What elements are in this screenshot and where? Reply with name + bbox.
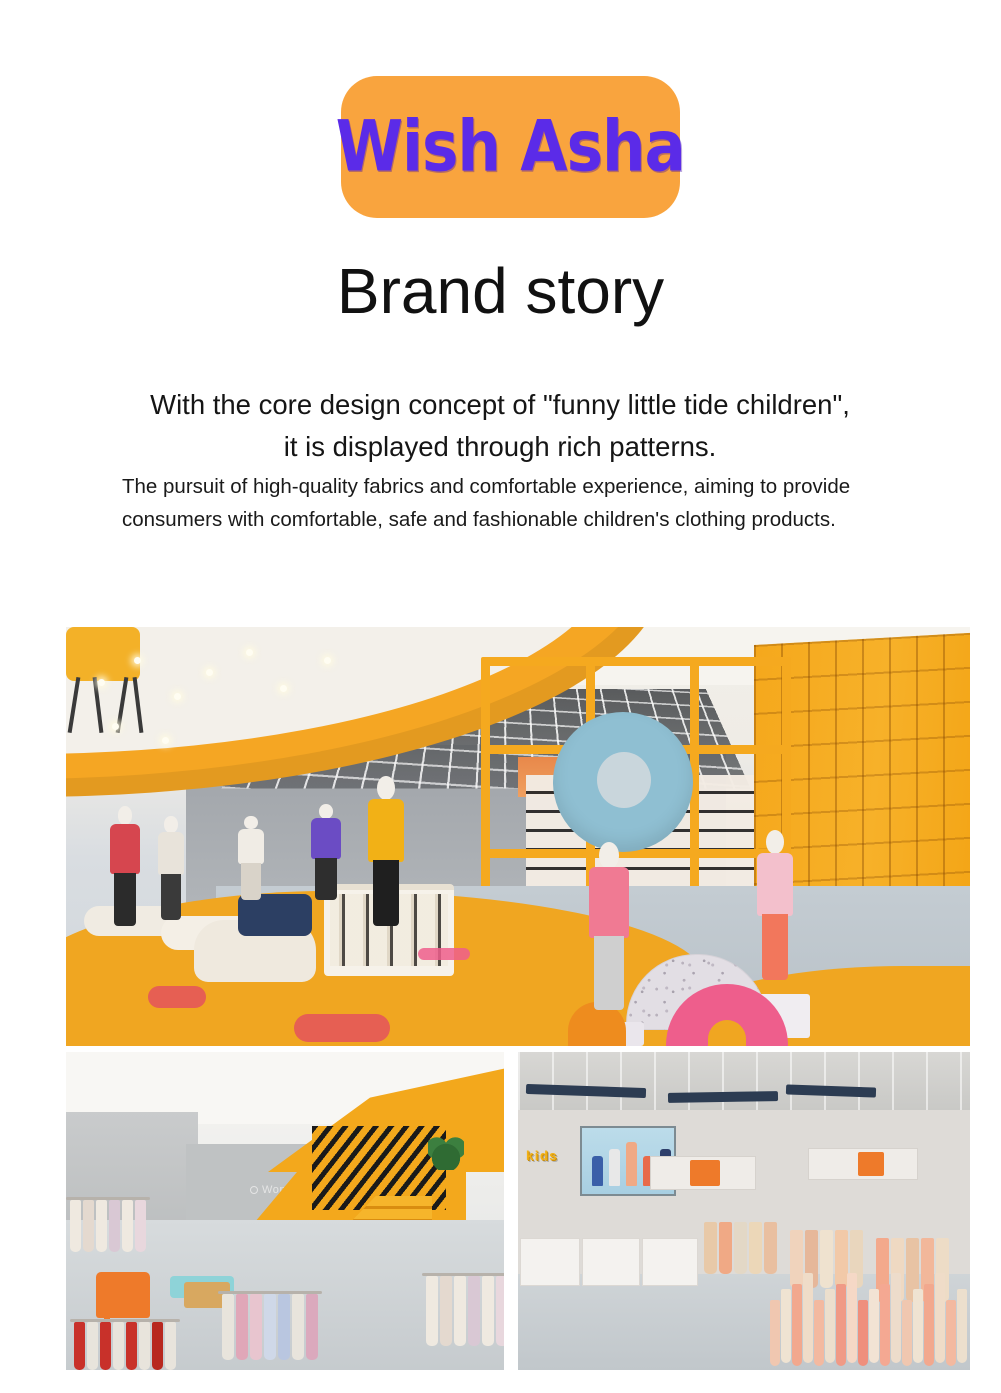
mannequin-head [599,842,619,869]
left-plant [428,1130,464,1170]
right-poster-1 [690,1160,720,1186]
mannequin-head [118,806,133,825]
wonderful-ring-icon [250,1186,258,1194]
hanging-garment [764,1222,777,1274]
left-rack-low-item [113,1322,124,1370]
left-rack-front-item [250,1294,262,1360]
foreground-garment [880,1284,890,1366]
left-rack-low-item [152,1322,163,1370]
hero-backpack-display [238,894,312,936]
mannequin-top [368,799,403,862]
hanging-garment [790,1230,803,1288]
mannequin-b [156,816,186,920]
mannequin-bottom [594,936,623,1010]
mannequin-e [366,776,406,926]
left-scene: Wonderful [66,1052,504,1370]
left-rack-low-bar [70,1319,180,1322]
foreground-garment [858,1300,868,1366]
foreground-garment [946,1300,956,1366]
mannequin-head [244,816,257,829]
hanging-garment [820,1230,833,1288]
hanging-garment [719,1222,732,1274]
hero-blue-donut-sculpture [553,712,693,852]
ceiling-light-5 [162,737,169,744]
foreground-garment [792,1284,802,1366]
left-rack-front-item [264,1294,276,1360]
mannequin-top [757,853,794,916]
right-poster-2 [858,1152,884,1176]
screen-figure [626,1142,637,1186]
screen-figure [592,1156,603,1186]
mannequin-g [754,830,796,980]
mannequin-top [110,824,140,874]
left-rack-wall-item [122,1200,133,1252]
right-scene: kids [518,1052,970,1370]
screen-figure [609,1149,620,1186]
left-rack-front-item [236,1294,248,1360]
store-photo-main [66,627,970,1046]
left-rack-right-item [482,1276,494,1346]
ceiling-light-1 [98,679,105,686]
ceiling-light-9 [324,657,331,664]
left-rack-front-item [222,1294,234,1360]
left-rack-wall-item [109,1200,120,1252]
left-rack-right-item [440,1276,452,1346]
mannequin-bottom [315,858,337,900]
foreground-garment [836,1284,846,1366]
brand-story-page: Wish Asha Brand story With the core desi… [0,0,1001,1393]
ceiling-light-4 [112,723,119,730]
right-fixture-1 [520,1238,580,1286]
left-rack-low-item [74,1322,85,1370]
right-fixture-3 [642,1238,698,1286]
hero-scene [66,627,970,1046]
mannequin-bottom [241,863,260,900]
photo-gallery: Wonderful [0,0,1001,1393]
foreground-garment [924,1284,934,1366]
ceiling-light-2 [134,657,141,664]
foreground-garment [957,1289,967,1363]
left-rack-right-item [496,1276,504,1346]
hanging-garment [749,1222,762,1274]
left-rack-front-item [306,1294,318,1360]
hanging-garment [734,1222,747,1274]
left-rack-wall-item [83,1200,94,1252]
foreground-garment [814,1300,824,1366]
foreground-garment [770,1300,780,1366]
left-rack-wall-item [135,1200,146,1252]
left-rack-low-item [139,1322,150,1370]
left-rack-low-item [100,1322,111,1370]
mannequin-bottom [373,860,399,926]
hero-floor-decal-1 [148,986,206,1008]
left-rack-low-item [165,1322,176,1370]
mannequin-bottom [762,914,789,980]
hero-stroller-seat [66,627,140,681]
store-photo-stairs: Wonderful [66,1052,504,1370]
left-orange-chair [96,1272,150,1318]
foreground-garment [803,1273,813,1363]
foreground-garment [902,1300,912,1366]
left-rack-low-item [87,1322,98,1370]
store-photo-kids-zone: kids [518,1052,970,1370]
hero-floor-decal-2 [294,1014,390,1042]
mannequin-top [311,818,341,858]
hanging-garment [704,1222,717,1274]
mannequin-bottom [114,873,136,926]
mannequin-top [158,832,184,876]
ceiling-light-3 [174,693,181,700]
ceiling-light-6 [206,669,213,676]
mannequin-head [377,776,395,800]
mannequin-top [589,867,629,938]
right-beam-2 [668,1091,778,1103]
foreground-garment [891,1273,901,1363]
left-rack-low-item [126,1322,137,1370]
left-rack-front-item [292,1294,304,1360]
mannequin-d [309,804,343,900]
ceiling-light-8 [280,685,287,692]
kids-sign: kids [526,1148,558,1163]
foreground-garment [781,1289,791,1363]
foreground-garment [847,1273,857,1363]
mannequin-a [108,806,142,926]
mannequin-c [236,816,266,900]
foreground-garment [825,1289,835,1363]
left-rack-right-item [426,1276,438,1346]
left-rack-right-item [468,1276,480,1346]
left-rack-wall-item [70,1200,81,1252]
mannequin-top [238,829,264,864]
foreground-garment [869,1289,879,1363]
mannequin-f [586,842,632,1010]
mannequin-head [766,830,784,854]
hero-floor-decal-3 [418,948,470,960]
left-rack-front-item [278,1294,290,1360]
foreground-garment [913,1289,923,1363]
right-fixture-2 [582,1238,640,1286]
ceiling-light-7 [246,649,253,656]
mannequin-bottom [161,874,180,920]
left-rack-right-item [454,1276,466,1346]
mannequin-head [319,804,334,819]
foreground-garment [935,1273,945,1363]
mannequin-head [164,816,177,833]
left-rack-wall-item [96,1200,107,1252]
